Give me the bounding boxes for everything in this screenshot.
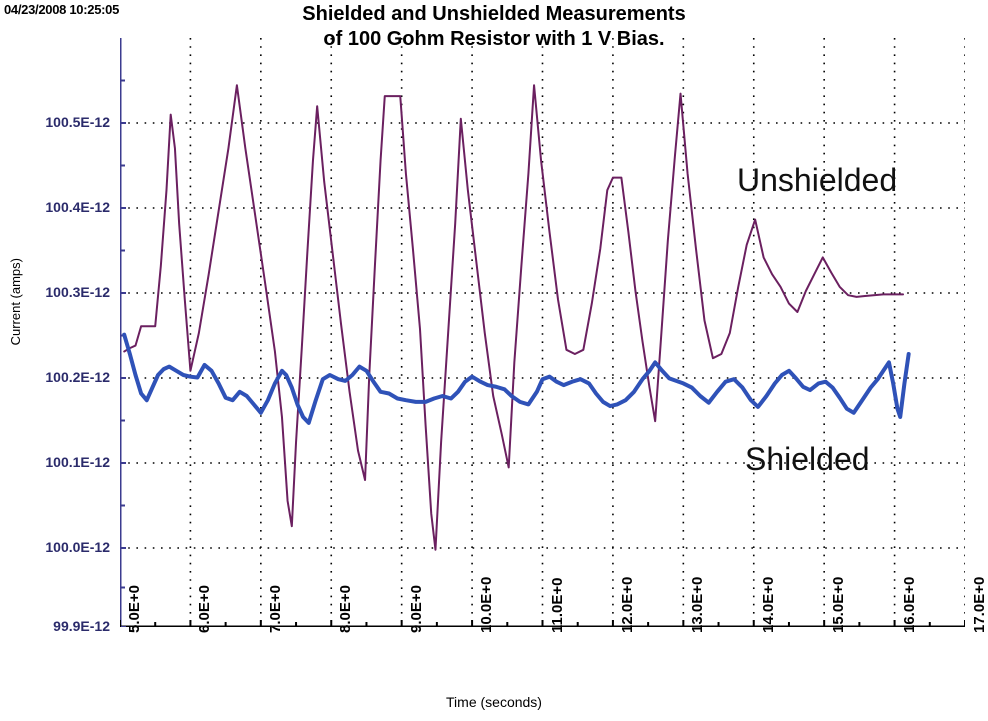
y-tick-label: 99.9E-12: [14, 618, 110, 634]
x-tick-label: 7.0E+0: [267, 585, 284, 633]
data-series-unshielded: [124, 85, 903, 550]
capture-timestamp: 04/23/2008 10:25:05: [4, 2, 119, 17]
x-axis-title: Time (seconds): [0, 694, 988, 710]
x-tick-label: 12.0E+0: [619, 577, 636, 633]
chart-canvas: [120, 38, 965, 627]
x-tick-label: 14.0E+0: [760, 577, 777, 633]
y-tick-label: 100.0E-12: [14, 539, 110, 555]
y-tick-label: 100.4E-12: [14, 199, 110, 215]
x-tick-label: 6.0E+0: [196, 585, 213, 633]
x-tick-label: 10.0E+0: [478, 577, 495, 633]
x-tick-label: 17.0E+0: [971, 577, 988, 633]
x-tick-label: 15.0E+0: [830, 577, 847, 633]
x-tick-label: 9.0E+0: [408, 585, 425, 633]
series-label-unshielded: Unshielded: [737, 162, 897, 199]
y-tick-label: 100.2E-12: [14, 369, 110, 385]
plot-area: [120, 38, 965, 627]
y-tick-label: 100.1E-12: [14, 454, 110, 470]
x-tick-label: 5.0E+0: [126, 585, 143, 633]
y-axis-title: Current (amps): [8, 258, 23, 345]
y-tick-label: 100.5E-12: [14, 114, 110, 130]
y-tick-label: 100.3E-12: [14, 284, 110, 300]
x-tick-label: 11.0E+0: [549, 578, 566, 633]
x-tick-label: 16.0E+0: [901, 577, 918, 633]
chart-title-line1: Shielded and Unshielded Measurements: [0, 2, 988, 27]
x-tick-label: 13.0E+0: [689, 577, 706, 633]
series-label-shielded: Shielded: [745, 441, 870, 478]
x-tick-label: 8.0E+0: [337, 585, 354, 633]
data-series-shielded: [124, 335, 908, 423]
